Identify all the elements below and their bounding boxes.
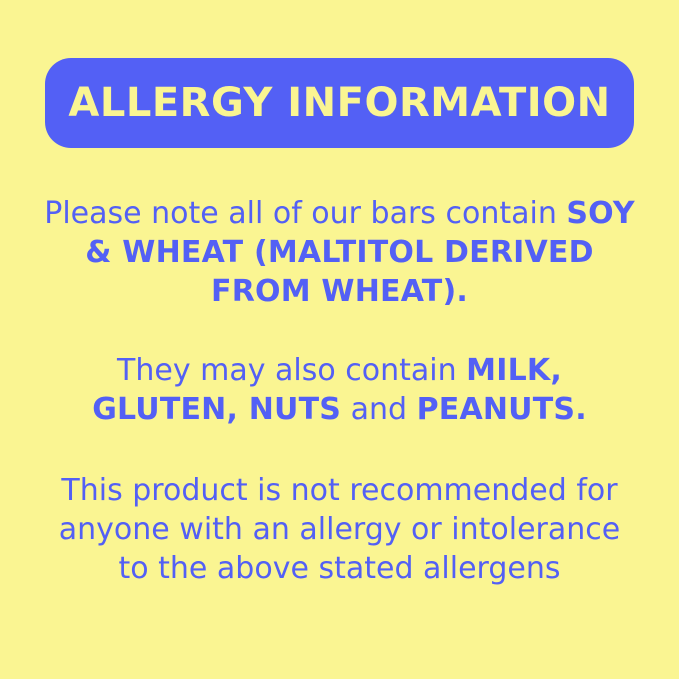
text-plain: Please note all of our bars contain bbox=[44, 196, 566, 231]
allergy-body: Please note all of our bars contain SOY … bbox=[44, 148, 635, 588]
text-plain: This product is not recommended for anyo… bbox=[59, 473, 620, 586]
paragraph-not-recommended: This product is not recommended for anyo… bbox=[44, 471, 635, 588]
allergy-information-card: ALLERGY INFORMATION Please note all of o… bbox=[0, 0, 679, 679]
text-plain: They may also contain bbox=[117, 353, 466, 388]
text-emphasis-peanuts: PEANUTS. bbox=[417, 392, 587, 427]
text-plain-and: and bbox=[341, 392, 417, 427]
title-banner: ALLERGY INFORMATION bbox=[45, 58, 634, 148]
paragraph-contains: Please note all of our bars contain SOY … bbox=[44, 194, 635, 311]
paragraph-may-contain: They may also contain MILK, GLUTEN, NUTS… bbox=[44, 351, 635, 429]
page-title: ALLERGY INFORMATION bbox=[68, 83, 610, 123]
